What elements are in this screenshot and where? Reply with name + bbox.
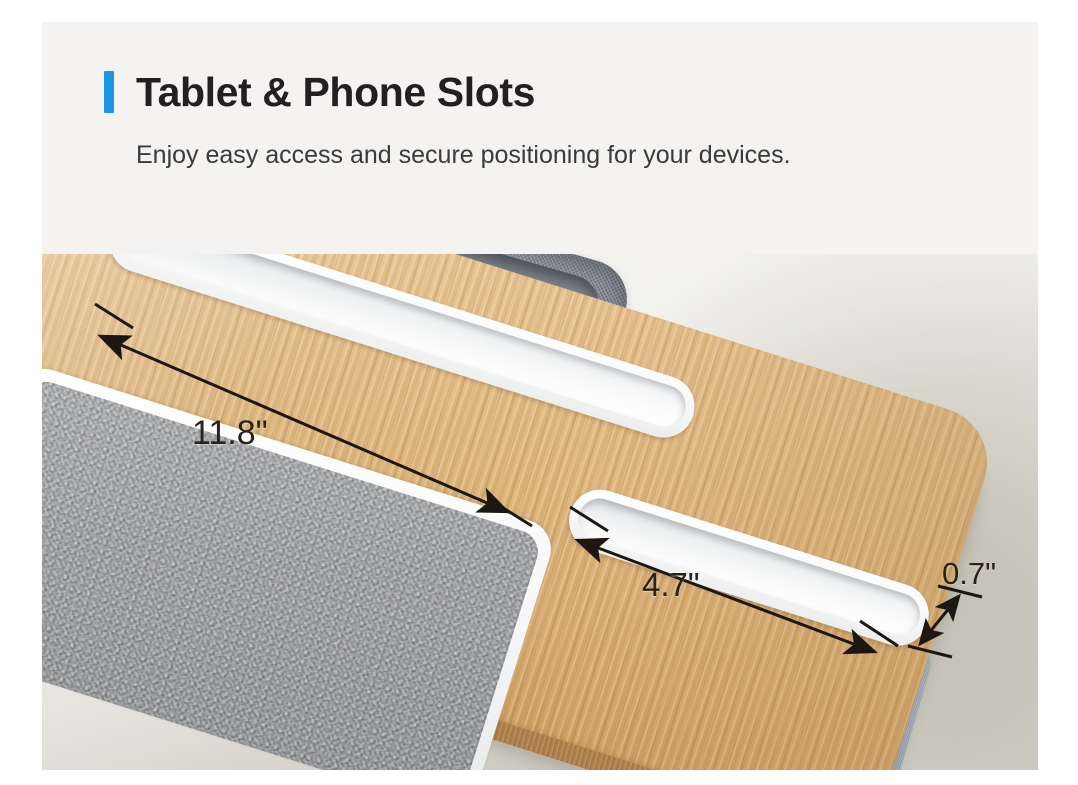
lap-desk	[42, 254, 1038, 770]
page-title: Tablet & Phone Slots	[136, 72, 535, 113]
photo-scene: 11.8" 4.7" 0.7"	[42, 254, 1038, 770]
accent-bar-icon	[104, 71, 114, 113]
headline-row: Tablet & Phone Slots	[104, 64, 964, 120]
feature-subtitle: Enjoy easy access and secure positioning…	[136, 138, 836, 173]
product-photo: 11.8" 4.7" 0.7"	[42, 254, 1038, 770]
product-feature-image: Tablet & Phone Slots Enjoy easy access a…	[0, 0, 1078, 785]
content-panel: Tablet & Phone Slots Enjoy easy access a…	[42, 22, 1038, 770]
feature-text-block: Tablet & Phone Slots Enjoy easy access a…	[104, 64, 964, 173]
